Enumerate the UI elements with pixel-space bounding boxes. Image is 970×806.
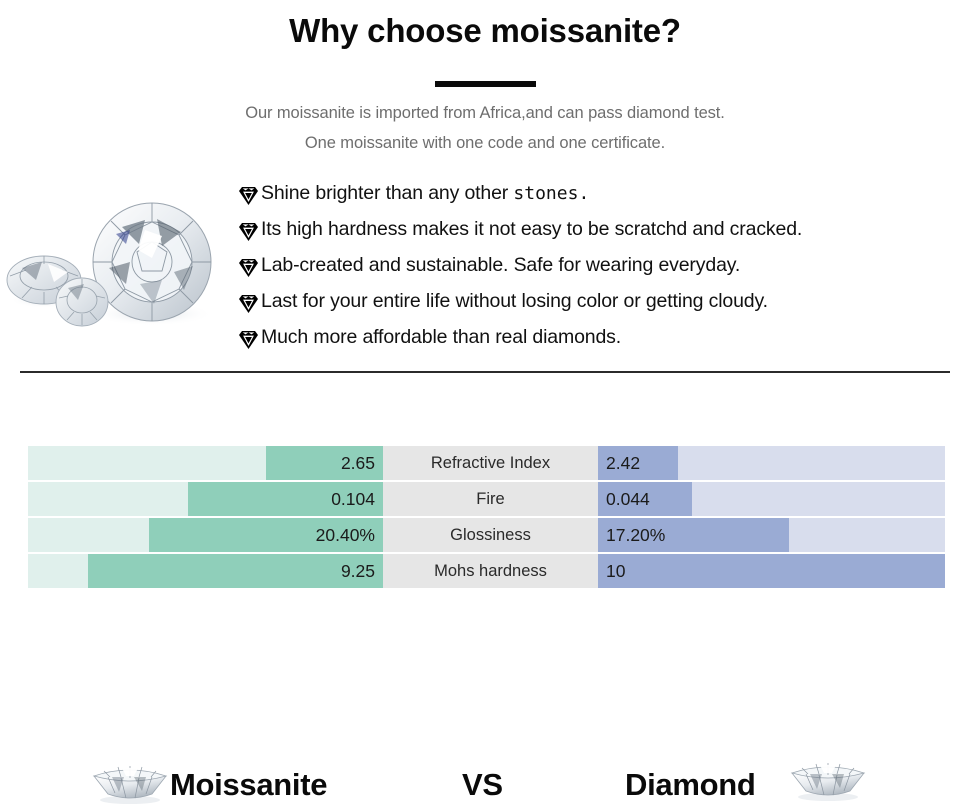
feature-text: Much more affordable than real diamonds. <box>261 324 621 351</box>
moissanite-bar-track: 9.25 <box>28 554 383 588</box>
feature-list: Shine brighter than any other stones. It… <box>236 180 962 360</box>
gem-bullet-icon <box>236 183 261 207</box>
table-row: 0.104 Fire 0.044 <box>0 482 970 516</box>
table-row: 2.65 Refractive Index 2.42 <box>0 446 970 480</box>
comparison-header: Moissanite VS Diamond <box>0 378 970 434</box>
metric-label: Mohs hardness <box>383 554 598 588</box>
title-underline-rule <box>435 81 536 87</box>
diamond-gem-icon <box>88 760 172 806</box>
list-item: Last for your entire life without losing… <box>236 288 962 324</box>
diamond-value: 2.42 <box>606 446 640 480</box>
subtitle-line-2: One moissanite with one code and one cer… <box>0 134 970 153</box>
feature-text: Last for your entire life without losing… <box>261 288 768 315</box>
diamond-value: 0.044 <box>606 482 650 516</box>
feature-text: Shine brighter than any other stones. <box>261 180 589 207</box>
metric-label: Fire <box>383 482 598 516</box>
comparison-table: 2.65 Refractive Index 2.42 0.104 Fire 0.… <box>0 446 970 590</box>
moissanite-value: 20.40% <box>316 518 375 552</box>
table-row: 20.40% Glossiness 17.20% <box>0 518 970 552</box>
comparison-label-vs: VS <box>462 767 503 803</box>
metric-label: Glossiness <box>383 518 598 552</box>
diamond-value: 10 <box>606 554 625 588</box>
moissanite-bar-track: 2.65 <box>28 446 383 480</box>
diamond-bar-track <box>598 482 945 516</box>
diamond-value: 17.20% <box>606 518 665 552</box>
subtitle-line-1: Our moissanite is imported from Africa,a… <box>0 104 970 123</box>
page-title: Why choose moissanite? <box>0 12 970 50</box>
list-item: Its high hardness makes it not easy to b… <box>236 216 962 252</box>
section-divider <box>20 371 950 373</box>
comparison-label-diamond: Diamond <box>625 767 756 803</box>
list-item: Lab-created and sustainable. Safe for we… <box>236 252 962 288</box>
diamond-gem-icon <box>786 757 870 803</box>
diamond-bar-fill <box>598 554 945 588</box>
moissanite-bar-track: 0.104 <box>28 482 383 516</box>
moissanite-bar-fill <box>88 554 383 588</box>
feature-text: Its high hardness makes it not easy to b… <box>261 216 802 243</box>
metric-label: Refractive Index <box>383 446 598 480</box>
gem-bullet-icon <box>236 327 261 351</box>
diamond-bar-track <box>598 554 945 588</box>
table-row: 9.25 Mohs hardness 10 <box>0 554 970 588</box>
gem-bullet-icon <box>236 219 261 243</box>
list-item: Much more affordable than real diamonds. <box>236 324 962 360</box>
moissanite-value: 2.65 <box>341 446 375 480</box>
gem-bullet-icon <box>236 291 261 315</box>
moissanite-value: 0.104 <box>331 482 375 516</box>
diamond-bar-track <box>598 446 945 480</box>
comparison-label-moissanite: Moissanite <box>170 767 327 803</box>
moissanite-value: 9.25 <box>341 554 375 588</box>
moissanite-bar-track: 20.40% <box>28 518 383 552</box>
feature-text: Lab-created and sustainable. Safe for we… <box>261 252 740 279</box>
feature-mono-word: stones. <box>513 183 589 204</box>
gem-bullet-icon <box>236 255 261 279</box>
list-item: Shine brighter than any other stones. <box>236 180 962 216</box>
diamond-cluster-photo <box>2 172 234 350</box>
